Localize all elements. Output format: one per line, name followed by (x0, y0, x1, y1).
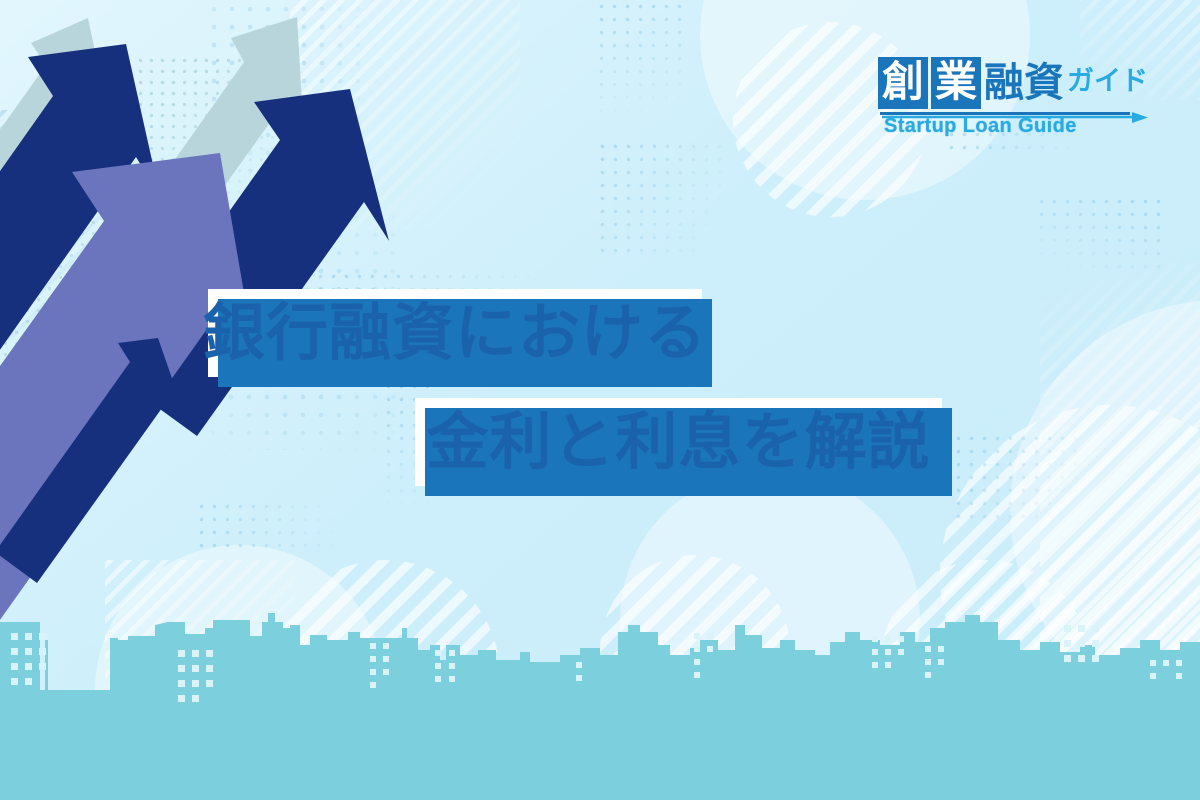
logo-kanji-box-2: 業 (931, 57, 981, 109)
logo-japanese-row: 創 業 融資 ガイド (878, 55, 1153, 109)
site-logo[interactable]: 創 業 融資 ガイド Startup Loan Guide (878, 55, 1153, 145)
logo-subtitle: Startup Loan Guide (884, 115, 1077, 138)
banner-canvas: 銀行融資における 金利と利息を解説 創 業 融資 ガイド Startup Loa… (0, 0, 1200, 800)
headline-text-line1: 銀行融資における (203, 302, 707, 364)
headline-text-line2: 金利と利息を解説 (426, 411, 930, 473)
logo-katakana: ガイド (1067, 57, 1148, 109)
logo-kanji-plain: 融資 (984, 57, 1064, 109)
logo-kanji-box-1: 創 (878, 57, 928, 109)
skyline-silhouette (0, 613, 1200, 800)
headline-box-line2: 金利と利息を解説 (415, 398, 942, 486)
headline-box-line1: 銀行融資における (208, 289, 702, 377)
